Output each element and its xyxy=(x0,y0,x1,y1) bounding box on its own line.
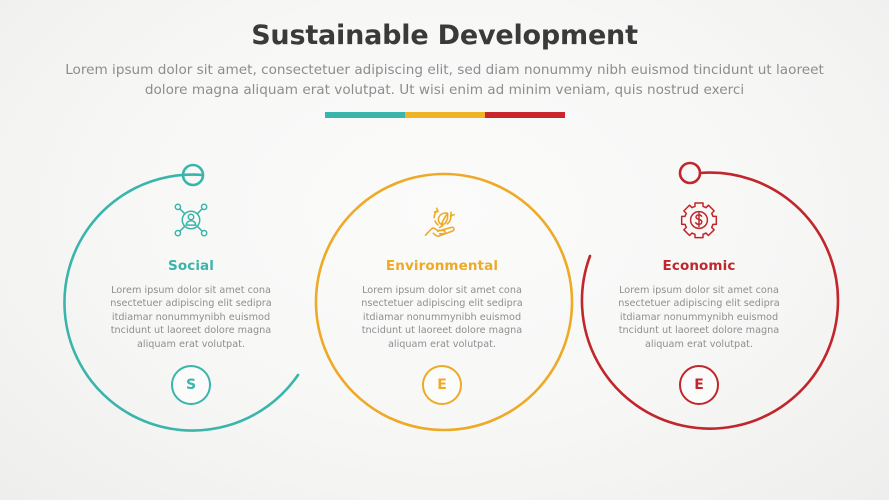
section-title-social: Social xyxy=(76,258,306,274)
header: Sustainable Development Lorem ipsum dolo… xyxy=(0,0,889,100)
divider-segment-amber xyxy=(405,112,485,118)
section-environmental[interactable]: Environmental Lorem ipsum dolor sit amet… xyxy=(327,192,557,405)
section-economic[interactable]: Economic Lorem ipsum dolor sit amet cona… xyxy=(584,192,814,405)
hand-leaf-recycle-icon xyxy=(327,192,557,248)
section-description-economic: Lorem ipsum dolor sit amet cona nsectetu… xyxy=(606,284,792,351)
badge-economic: E xyxy=(679,365,719,405)
infographic-canvas: Sustainable Development Lorem ipsum dolo… xyxy=(0,0,889,500)
section-social[interactable]: Social Lorem ipsum dolor sit amet cona n… xyxy=(76,192,306,405)
divider-segment-teal xyxy=(325,112,405,118)
page-title: Sustainable Development xyxy=(0,0,889,51)
badge-social: S xyxy=(171,365,211,405)
section-description-environmental: Lorem ipsum dolor sit amet cona nsectetu… xyxy=(349,284,535,351)
gear-dollar-icon xyxy=(584,192,814,248)
section-description-social: Lorem ipsum dolor sit amet cona nsectetu… xyxy=(98,284,284,351)
circles-group: Social Lorem ipsum dolor sit amet cona n… xyxy=(0,150,889,470)
badge-environmental: E xyxy=(422,365,462,405)
marker-dot-economic xyxy=(680,163,700,183)
section-title-environmental: Environmental xyxy=(327,258,557,274)
page-subtitle: Lorem ipsum dolor sit amet, consectetuer… xyxy=(65,60,825,100)
divider xyxy=(325,112,565,118)
divider-segment-red xyxy=(485,112,565,118)
people-network-icon xyxy=(76,192,306,248)
section-title-economic: Economic xyxy=(584,258,814,274)
